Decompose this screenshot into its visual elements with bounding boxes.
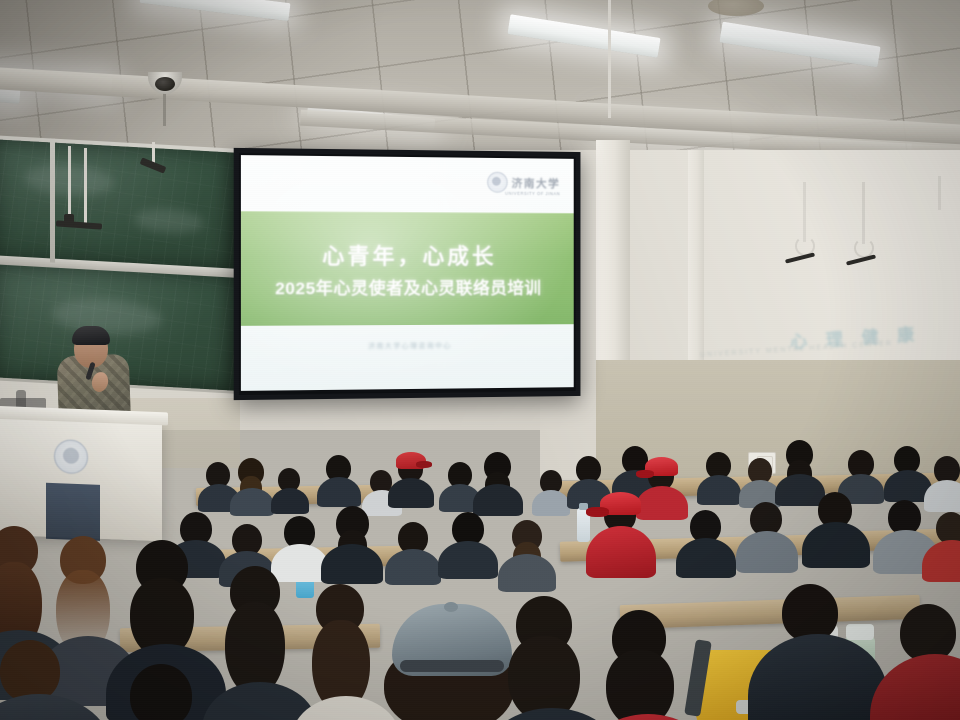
presentation-slide: 济南大学 UNIVERSITY OF JINAN 心青年，心成长 2025年心灵… [241,155,574,391]
slide-title: 心青年，心成长 [241,238,574,271]
cap-button [444,602,458,612]
projector-mount-rod [84,148,87,224]
slide-logo-text: 济南大学 [512,174,561,190]
slide-logo-subtext: UNIVERSITY OF JINAN [505,191,560,196]
red-hoodie [586,526,656,578]
chalkboard-panel-upper [0,139,234,270]
chalkboard-edge-left [50,138,55,262]
slide-green-band: 心青年，心成长 2025年心灵使者及心灵联络员培训 [241,211,574,326]
projector-mount-rod [68,146,71,222]
thermos-lid [846,624,874,640]
wall-mount-rod-far [938,176,941,210]
wall-mount-rod [803,182,806,242]
projector-mount-bracket [64,214,74,226]
slide-subtitle: 2025年心灵使者及心灵联络员培训 [241,274,574,299]
projection-screen: 济南大学 UNIVERSITY OF JINAN 心青年，心成长 2025年心灵… [234,148,581,400]
cap-strap [400,660,504,672]
lecture-hall-photo: 心 理 健 康 UNIVERSITY MENTAL HEALTH CENTER [0,0,960,720]
podium-university-seal-icon [54,439,88,474]
podium-recess [46,483,100,541]
lecture-podium [0,415,162,541]
wall-mount-rod [862,182,865,244]
slide-footer-text: 济南大学心理咨询中心 [241,340,574,352]
ceiling-drop-rod [608,0,611,118]
university-seal-icon [487,172,508,193]
student-desk [620,595,921,629]
presenter-cap [72,326,110,345]
